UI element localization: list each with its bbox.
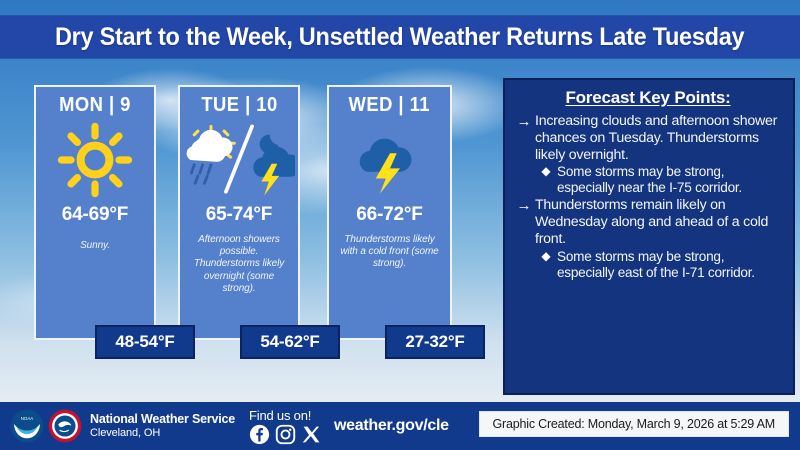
arrow-bullet-icon: → — [513, 197, 535, 215]
forecast-card-high-temps: 64-69°F — [62, 204, 128, 226]
key-point-text: Some storms may be strong, especially ea… — [557, 249, 783, 281]
x-twitter-icon[interactable] — [301, 424, 322, 445]
instagram-icon[interactable] — [275, 424, 296, 445]
facebook-icon[interactable] — [249, 424, 270, 445]
key-point-item: → Increasing clouds and afternoon shower… — [513, 113, 783, 163]
forecast-card-wednesday: WED | 11 66-72°F Thunderstorms likely wi… — [327, 85, 452, 340]
key-point-item: → Thunderstorms remain likely on Wednesd… — [513, 197, 783, 247]
key-point-text: Increasing clouds and afternoon shower c… — [535, 113, 783, 163]
forecast-card-day-label: WED | 11 — [349, 94, 430, 117]
rain-cloud-slash-thunderstorm-icon — [180, 117, 298, 203]
find-us-label: Find us on! — [249, 408, 322, 423]
forecast-card-monday: MON | 9 64-69°F Sunny. — [34, 85, 156, 340]
forecast-card-day-label: TUE | 10 — [201, 94, 277, 117]
headline-banner: Dry Start to the Week, Unsettled Weather… — [0, 16, 800, 58]
overnight-low-badge-wednesday: 27-32°F — [385, 325, 485, 359]
key-point-text: Some storms may be strong, especially ne… — [557, 164, 783, 196]
agency-name: National Weather Service — [90, 412, 235, 426]
nws-logo-icon — [48, 409, 82, 443]
forecast-key-points-panel: Forecast Key Points: → Increasing clouds… — [503, 78, 795, 395]
page-title: Dry Start to the Week, Unsettled Weather… — [55, 23, 744, 52]
forecast-card-description: Thunderstorms likely with a cold front (… — [329, 226, 450, 271]
website-url[interactable]: weather.gov/cle — [334, 417, 449, 435]
key-points-heading: Forecast Key Points: — [513, 88, 783, 108]
forecast-card-description: Sunny. — [73, 226, 117, 252]
diamond-bullet-icon: ◆ — [535, 249, 557, 263]
key-point-text: Thunderstorms remain likely on Wednesday… — [535, 197, 783, 247]
forecast-card-day-label: MON | 9 — [59, 94, 131, 117]
overnight-low-badge-tuesday: 54-62°F — [240, 325, 340, 359]
diamond-bullet-icon: ◆ — [535, 164, 557, 178]
overnight-low-badge-monday: 48-54°F — [95, 325, 195, 359]
find-us-block: Find us on! — [249, 408, 322, 445]
thunderstorm-cloud-icon — [329, 117, 450, 203]
graphic-created-timestamp: Graphic Created: Monday, March 9, 2026 a… — [479, 411, 790, 437]
forecast-card-description: Afternoon showers possible. Thunderstorm… — [180, 226, 298, 295]
social-links — [249, 424, 322, 445]
key-point-subitem: ◆ Some storms may be strong, especially … — [535, 249, 783, 281]
forecast-card-high-temps: 65-74°F — [206, 204, 272, 226]
agency-name-block: National Weather Service Cleveland, OH — [90, 412, 235, 439]
forecast-card-tuesday: TUE | 10 — [178, 85, 300, 340]
sun-icon — [36, 117, 154, 203]
office-location: Cleveland, OH — [90, 427, 235, 440]
arrow-bullet-icon: → — [513, 113, 535, 131]
svg-text:NOAA: NOAA — [21, 416, 34, 421]
noaa-logo-icon: NOAA — [10, 409, 44, 443]
key-point-subitem: ◆ Some storms may be strong, especially … — [535, 164, 783, 196]
footer-bar: NOAA National Weather Service Cleveland,… — [0, 402, 800, 450]
forecast-card-high-temps: 66-72°F — [356, 204, 422, 226]
